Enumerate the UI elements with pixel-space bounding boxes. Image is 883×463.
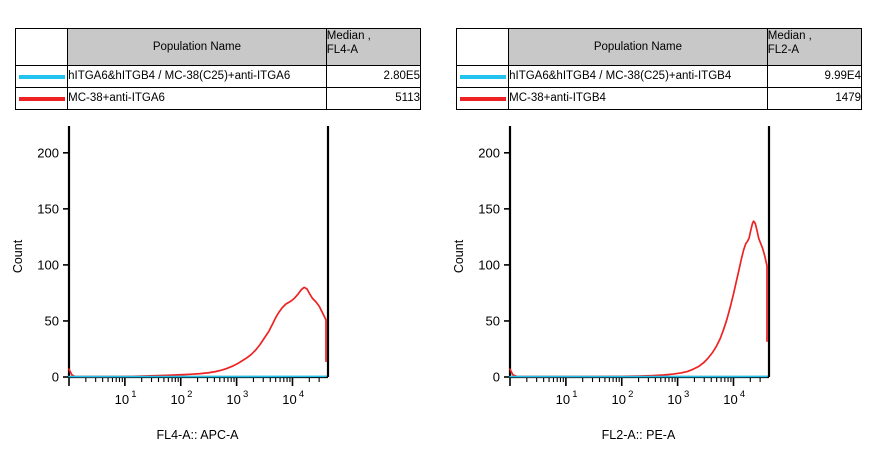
legend-population-name: MC-38+anti-ITGA6 bbox=[68, 88, 327, 110]
legend-population-name: hITGA6&hITGB4 / MC-38(C25)+anti-ITGA6 bbox=[68, 66, 327, 88]
legend-header-median-line2: FL2-A bbox=[768, 43, 861, 57]
y-axis-title: Count bbox=[452, 239, 466, 273]
x-axis-title: FL4-A:: APC-A bbox=[157, 428, 240, 442]
legend-table-right: Population Name Median , FL2-A hITGA6&hI… bbox=[456, 28, 862, 110]
legend-median-value: 1479 bbox=[767, 88, 861, 110]
x-tick-base: 10 bbox=[667, 392, 681, 407]
x-tick-base: 10 bbox=[171, 392, 185, 407]
histogram-curve bbox=[69, 287, 326, 376]
legend-header-median-line1: Median , bbox=[327, 29, 420, 43]
table-row: hITGA6&hITGB4 / MC-38(C25)+anti-ITGA6 2.… bbox=[16, 66, 421, 88]
legend-header-median: Median , FL2-A bbox=[767, 29, 861, 66]
legend-header-median: Median , FL4-A bbox=[326, 29, 420, 66]
x-tick-exponent: 4 bbox=[740, 389, 745, 400]
y-tick-label: 100 bbox=[478, 257, 500, 272]
y-tick-label: 50 bbox=[45, 313, 59, 328]
legend-header-row: Population Name Median , FL2-A bbox=[457, 29, 862, 66]
x-axis-title: FL2-A:: PE-A bbox=[602, 428, 676, 442]
x-tick-exponent: 2 bbox=[628, 389, 633, 400]
x-tick-base: 10 bbox=[612, 392, 626, 407]
table-row: MC-38+anti-ITGB4 1479 bbox=[457, 88, 862, 110]
y-tick-label: 200 bbox=[37, 145, 59, 160]
x-tick-base: 10 bbox=[556, 392, 570, 407]
y-axis-title: Count bbox=[11, 239, 25, 273]
histogram-svg: 050100150200Count101102103104FL4-A:: APC… bbox=[0, 122, 441, 463]
y-tick-label: 100 bbox=[37, 257, 59, 272]
x-tick-exponent: 4 bbox=[299, 389, 304, 400]
legend-color-swatch bbox=[19, 97, 65, 101]
legend-swatch-cell bbox=[16, 88, 68, 110]
legend-header-swatch bbox=[457, 29, 509, 66]
legend-header-row: Population Name Median , FL4-A bbox=[16, 29, 421, 66]
y-tick-label: 150 bbox=[37, 201, 59, 216]
legend-swatch-cell bbox=[457, 88, 509, 110]
legend-color-swatch bbox=[19, 75, 65, 79]
table-row: MC-38+anti-ITGA6 5113 bbox=[16, 88, 421, 110]
x-tick-exponent: 1 bbox=[572, 389, 577, 400]
x-tick-exponent: 3 bbox=[684, 389, 689, 400]
legend-swatch-cell bbox=[16, 66, 68, 88]
panel-left: Population Name Median , FL4-A hITGA6&hI… bbox=[0, 0, 441, 463]
histogram-curve bbox=[510, 221, 767, 376]
x-tick-exponent: 2 bbox=[187, 389, 192, 400]
x-tick-exponent: 1 bbox=[131, 389, 136, 400]
x-tick-label: 102 bbox=[171, 389, 193, 407]
legend-header-population-name: Population Name bbox=[509, 29, 768, 66]
x-tick-label: 102 bbox=[612, 389, 634, 407]
legend-median-value: 2.80E5 bbox=[326, 66, 420, 88]
x-tick-label: 104 bbox=[723, 389, 745, 407]
x-tick-label: 104 bbox=[282, 389, 304, 407]
histogram-plot-left: 050100150200Count101102103104FL4-A:: APC… bbox=[0, 122, 441, 463]
legend-header-median-line1: Median , bbox=[768, 29, 861, 43]
legend-population-name: MC-38+anti-ITGB4 bbox=[509, 88, 768, 110]
legend-swatch-cell bbox=[457, 66, 509, 88]
legend-median-value: 9.99E4 bbox=[767, 66, 861, 88]
x-tick-label: 101 bbox=[115, 389, 137, 407]
x-tick-label: 103 bbox=[667, 389, 689, 407]
y-tick-label: 0 bbox=[493, 370, 500, 385]
legend-color-swatch bbox=[460, 97, 506, 101]
histogram-plot-right: 050100150200Count101102103104FL2-A:: PE-… bbox=[441, 122, 882, 463]
panel-right: Population Name Median , FL2-A hITGA6&hI… bbox=[441, 0, 882, 463]
x-tick-base: 10 bbox=[723, 392, 737, 407]
x-tick-label: 101 bbox=[556, 389, 578, 407]
x-tick-base: 10 bbox=[282, 392, 296, 407]
x-tick-base: 10 bbox=[115, 392, 129, 407]
y-tick-label: 200 bbox=[478, 145, 500, 160]
y-tick-label: 50 bbox=[486, 313, 500, 328]
legend-header-swatch bbox=[16, 29, 68, 66]
legend-table-left: Population Name Median , FL4-A hITGA6&hI… bbox=[15, 28, 421, 110]
y-tick-label: 0 bbox=[52, 370, 59, 385]
x-tick-label: 103 bbox=[226, 389, 248, 407]
histogram-svg: 050100150200Count101102103104FL2-A:: PE-… bbox=[441, 122, 882, 463]
legend-color-swatch bbox=[460, 75, 506, 79]
legend-median-value: 5113 bbox=[326, 88, 420, 110]
y-tick-label: 150 bbox=[478, 201, 500, 216]
legend-header-median-line2: FL4-A bbox=[327, 43, 420, 57]
x-tick-exponent: 3 bbox=[243, 389, 248, 400]
x-tick-base: 10 bbox=[226, 392, 240, 407]
legend-header-population-name: Population Name bbox=[68, 29, 327, 66]
table-row: hITGA6&hITGB4 / MC-38(C25)+anti-ITGB4 9.… bbox=[457, 66, 862, 88]
legend-population-name: hITGA6&hITGB4 / MC-38(C25)+anti-ITGB4 bbox=[509, 66, 768, 88]
